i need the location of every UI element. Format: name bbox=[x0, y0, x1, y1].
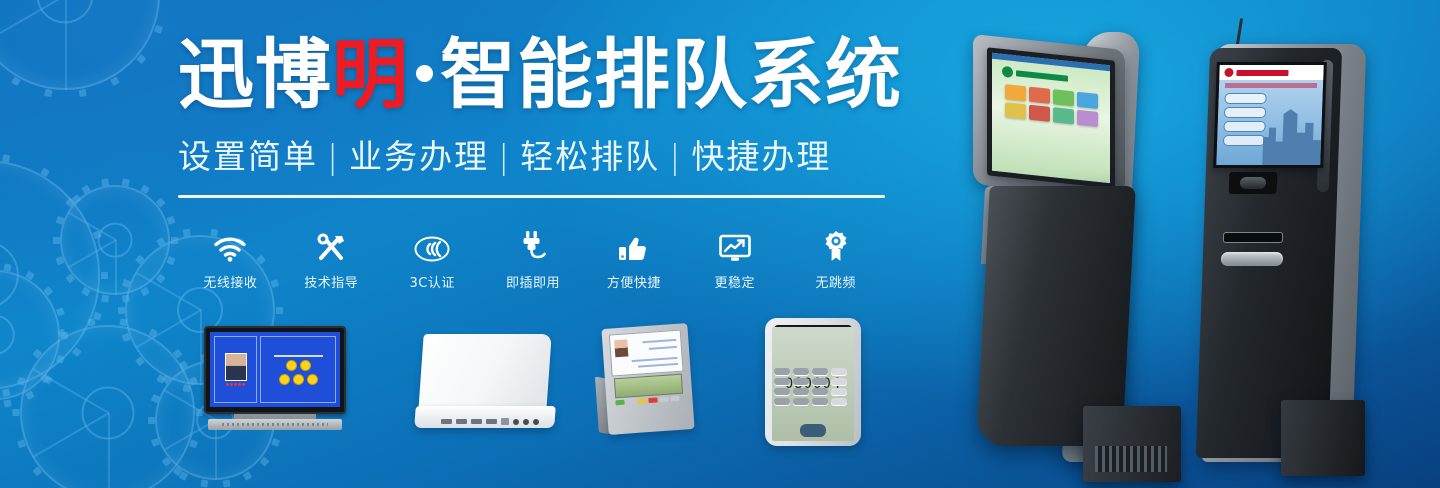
kiosk-right-card-reader[interactable] bbox=[1229, 172, 1278, 194]
headline-block: 迅博明智能排队系统 设置简单|业务办理|轻松排队|快捷办理 bbox=[178, 34, 898, 198]
product-showcase: 080004 bbox=[190, 318, 890, 458]
subtitle-separator: | bbox=[327, 137, 340, 176]
promo-banner: 迅博明智能排队系统 设置简单|业务办理|轻松排队|快捷办理 无线接收 技术指导 … bbox=[0, 0, 1440, 488]
staff-photo bbox=[225, 353, 247, 381]
feature-item-technical-support: 技术指导 bbox=[281, 228, 382, 291]
kiosk-left-touchscreen[interactable] bbox=[987, 47, 1115, 188]
monitor-bezel bbox=[204, 326, 346, 414]
kiosk-left-vent bbox=[1095, 446, 1167, 472]
monitor-base bbox=[208, 419, 342, 430]
product-lcd-evaluator-monitor bbox=[200, 326, 350, 438]
subtitle-item-2: 轻松排队 bbox=[520, 137, 660, 176]
kiosk-right-base bbox=[1281, 400, 1365, 476]
feature-item-convenient: 方便快捷 bbox=[583, 228, 684, 291]
feature-item-plug-and-play: 即插即用 bbox=[483, 228, 584, 291]
evaluator-body bbox=[601, 323, 694, 435]
subtitle-item-0: 设置简单 bbox=[178, 137, 318, 176]
kiosk-right-touchscreen[interactable] bbox=[1213, 62, 1327, 168]
subtitle: 设置简单|业务办理|轻松排队|快捷办理 bbox=[178, 130, 898, 178]
feature-item-more-stable: 更稳定 bbox=[684, 228, 785, 291]
feature-label: 更稳定 bbox=[714, 272, 755, 291]
page-title: 迅博明智能排队系统 bbox=[178, 34, 898, 116]
terminal-keypad[interactable] bbox=[774, 368, 852, 405]
product-window-keypad-terminal: 080004 bbox=[765, 318, 861, 446]
controller-panel bbox=[418, 334, 551, 412]
emoji-row bbox=[279, 374, 318, 385]
feature-label: 3C认证 bbox=[409, 272, 454, 291]
monitor-chart-icon bbox=[719, 228, 751, 262]
monitor-screen bbox=[210, 332, 340, 407]
evaluator-lcd bbox=[614, 374, 683, 399]
feature-label: 技术指导 bbox=[304, 272, 358, 291]
power-plug-icon bbox=[518, 228, 548, 262]
title-part-2: 智能排队系统 bbox=[440, 30, 902, 119]
product-desktop-evaluator bbox=[595, 320, 705, 444]
rating-stars bbox=[226, 383, 245, 386]
wifi-icon bbox=[213, 228, 247, 262]
subtitle-separator: | bbox=[498, 137, 511, 176]
feature-label: 无跳频 bbox=[815, 272, 856, 291]
staff-name-card bbox=[609, 330, 684, 377]
title-highlight: 明 bbox=[332, 30, 409, 119]
kiosk-right-printer-module bbox=[1221, 252, 1283, 266]
feature-label: 无线接收 bbox=[203, 272, 257, 291]
queue-kiosk-left bbox=[955, 18, 1185, 480]
queue-kiosk-right bbox=[1195, 14, 1395, 480]
staff-photo bbox=[614, 339, 628, 357]
feature-item-wireless: 无线接收 bbox=[180, 228, 281, 291]
title-dot-separator bbox=[416, 65, 433, 82]
product-wireless-controller-unit bbox=[415, 334, 555, 438]
controller-ports bbox=[441, 418, 539, 425]
staff-info-panel bbox=[214, 336, 257, 403]
gear-icon bbox=[0, 270, 60, 400]
subtitle-item-1: 业务办理 bbox=[349, 137, 489, 176]
subtitle-separator: | bbox=[669, 137, 682, 176]
rating-prompt bbox=[274, 355, 323, 357]
kiosk-right-bank-logo bbox=[1219, 65, 1324, 80]
thumbs-up-icon bbox=[618, 228, 650, 262]
subtitle-item-3: 快捷办理 bbox=[691, 137, 831, 176]
title-part-1: 迅博 bbox=[178, 30, 332, 119]
feature-list: 无线接收 技术指导 3C认证 即插即用 方便快捷 bbox=[180, 228, 886, 291]
ccc-certification-icon bbox=[414, 228, 450, 262]
feature-item-3c-certified: 3C认证 bbox=[382, 228, 483, 291]
award-ribbon-icon bbox=[823, 228, 849, 262]
tools-icon bbox=[316, 228, 346, 262]
feature-label: 即插即用 bbox=[506, 272, 560, 291]
kiosk-right-screen-subtitle bbox=[1225, 83, 1317, 88]
gear-icon bbox=[0, 0, 160, 90]
kiosk-right-ticket-slot bbox=[1223, 232, 1283, 243]
emoji-row bbox=[286, 360, 311, 371]
divider bbox=[178, 195, 885, 198]
feature-item-no-frequency-hopping: 无跳频 bbox=[785, 228, 886, 291]
feature-label: 方便快捷 bbox=[607, 272, 661, 291]
terminal-call-button[interactable] bbox=[800, 424, 826, 437]
satisfaction-rating-panel bbox=[260, 336, 336, 403]
kiosk-left-menu-tiles[interactable] bbox=[992, 83, 1110, 128]
